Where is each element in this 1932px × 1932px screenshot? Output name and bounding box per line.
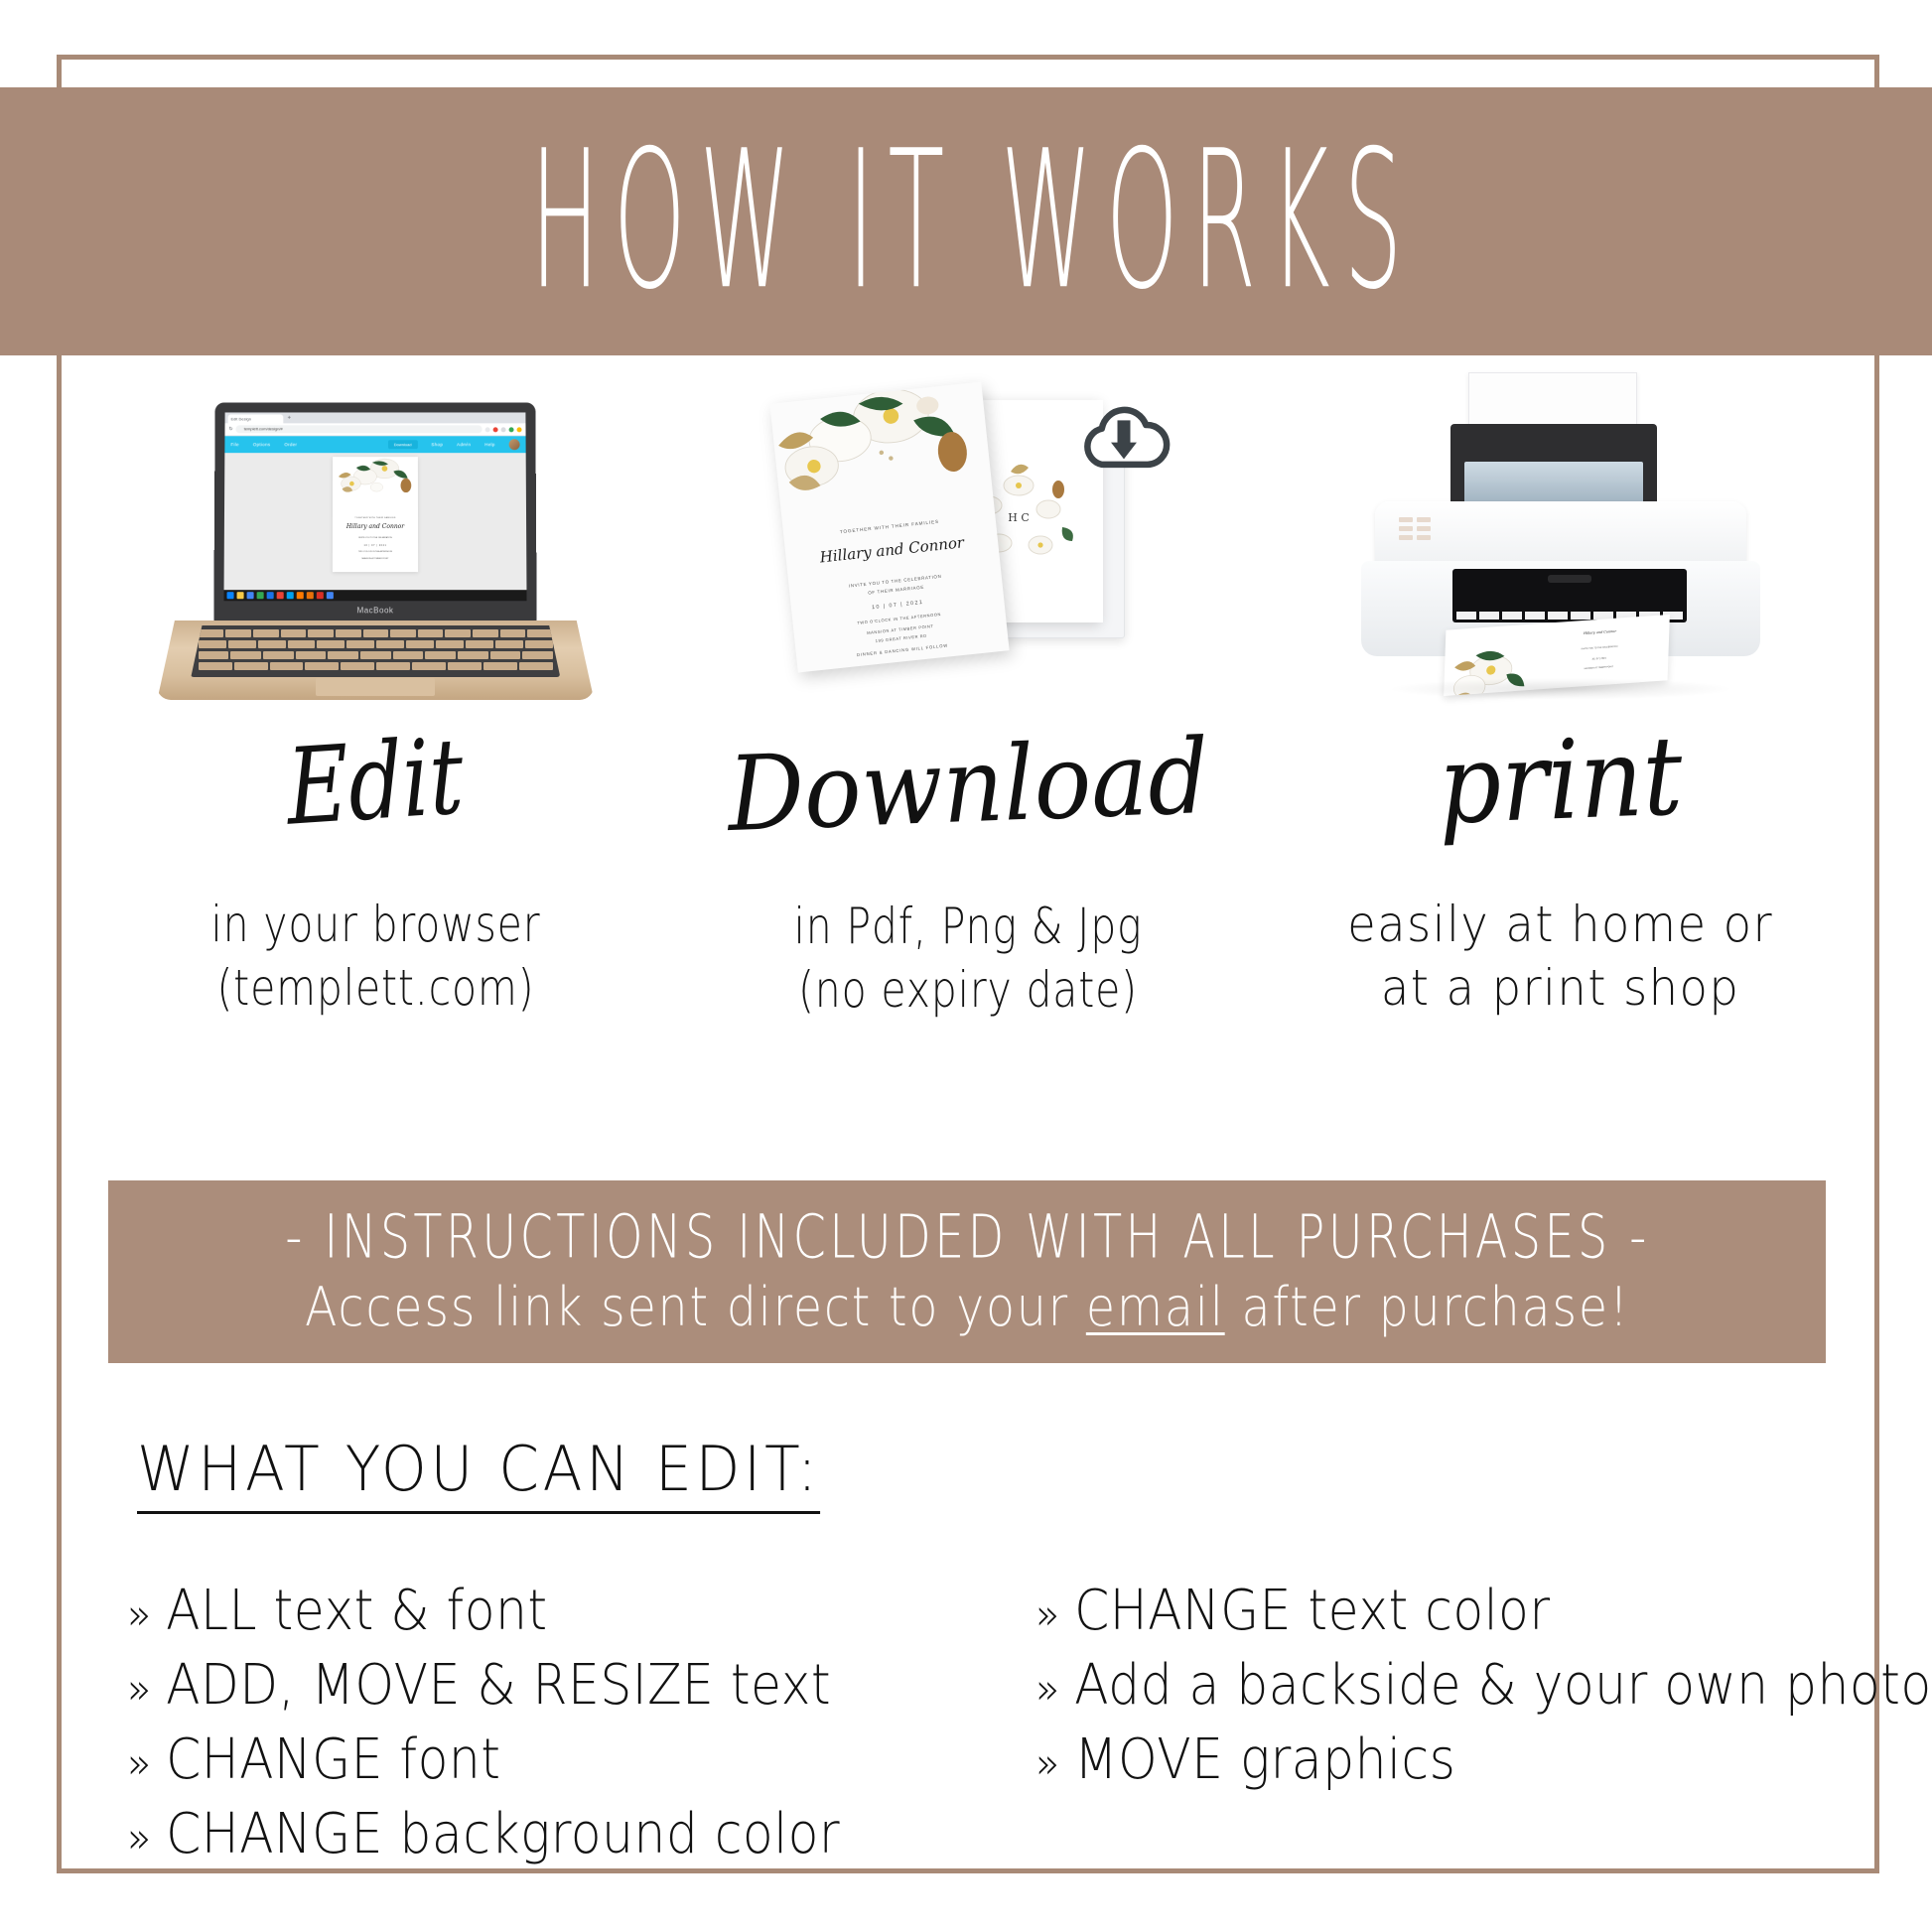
list-item: » CHANGE text color bbox=[1035, 1574, 1790, 1648]
caption-line-1: easily at home or bbox=[1347, 893, 1773, 956]
avatar[interactable] bbox=[509, 439, 520, 450]
invitation-time: TWO O'CLOCK IN THE AFTERNOON bbox=[340, 551, 411, 553]
laptop-keyboard bbox=[191, 625, 560, 677]
bullet-icon: » bbox=[1035, 1587, 1060, 1645]
os-taskbar bbox=[224, 590, 527, 601]
printer-shadow bbox=[1387, 678, 1734, 700]
printer-illustration: Hillary and Connor INVITE YOU TO THE CEL… bbox=[1264, 372, 1857, 700]
laptop-graphic: Edit Design + ↻ templett.com/design/# bbox=[157, 402, 594, 700]
menu-file[interactable]: File bbox=[231, 442, 239, 447]
bullet-icon: » bbox=[127, 1587, 152, 1645]
edit-list-left: » ALL text & font » ADD, MOVE & RESIZE t… bbox=[127, 1574, 1012, 1871]
profile-icon[interactable] bbox=[517, 427, 522, 432]
step-label-edit: Edit bbox=[286, 724, 467, 840]
invitation-date: 10 | 07 | 2021 bbox=[340, 544, 411, 547]
list-item: » Add a backside & your own photos bbox=[1035, 1648, 1790, 1723]
list-item: » ADD, MOVE & RESIZE text bbox=[127, 1648, 923, 1723]
step-caption-print: easily at home or at a print shop bbox=[1347, 893, 1773, 1020]
list-item: » MOVE graphics bbox=[1035, 1723, 1790, 1797]
step-label-download: Download bbox=[726, 725, 1209, 846]
laptop-brand-label: MacBook bbox=[214, 601, 537, 621]
step-caption-download: in Pdf, Png & Jpg (no expiry date) bbox=[794, 895, 1143, 1022]
cloud-download-icon bbox=[1077, 400, 1171, 476]
browser-tab-bar: Edit Design + bbox=[225, 412, 526, 423]
printer-output-slot bbox=[1452, 569, 1687, 622]
app-toolbar: File Options Order Download Shop Admin H… bbox=[225, 436, 526, 453]
instructions-band: - INSTRUCTIONS INCLUDED WITH ALL PURCHAS… bbox=[108, 1180, 1826, 1363]
browser-window: Edit Design + ↻ templett.com/design/# bbox=[224, 412, 527, 601]
invitation-venue: MANSION AT TIMBER POINT bbox=[1538, 662, 1659, 673]
download-illustration: H C bbox=[672, 372, 1265, 700]
caption-line-1: in your browser bbox=[210, 893, 540, 956]
instructions-subline: Access link sent direct to your email af… bbox=[305, 1276, 1630, 1338]
list-item: » CHANGE background color bbox=[127, 1797, 923, 1871]
how-it-works-infographic: HOW IT WORKS Edit Design + ↻ t bbox=[0, 0, 1932, 1932]
taskbar-icon[interactable] bbox=[287, 592, 294, 599]
printer-paper-feed-tray bbox=[1450, 424, 1657, 509]
floral-graphic bbox=[333, 457, 418, 505]
invitation-eyebrow: TOGETHER WITH THEIR FAMILIES bbox=[340, 517, 411, 519]
bullet-icon: » bbox=[1035, 1735, 1060, 1794]
step-edit: Edit Design + ↻ templett.com/design/# bbox=[79, 372, 672, 1077]
subline-before: Access link sent direct to your bbox=[305, 1276, 1086, 1338]
list-item-label: Add a backside & your own photos bbox=[1074, 1648, 1932, 1723]
printer-feed-inner bbox=[1464, 462, 1643, 505]
taskbar-icon[interactable] bbox=[297, 592, 304, 599]
list-item-label: MOVE graphics bbox=[1074, 1723, 1455, 1797]
extension-icon[interactable] bbox=[485, 427, 490, 432]
step-print: Hillary and Connor INVITE YOU TO THE CEL… bbox=[1264, 372, 1857, 1077]
invitation-names: Hillary and Connor bbox=[340, 523, 411, 530]
monogram-text: H C bbox=[1008, 511, 1030, 524]
list-item-label: ADD, MOVE & RESIZE text bbox=[166, 1648, 831, 1723]
email-link[interactable]: email bbox=[1086, 1276, 1225, 1338]
taskbar-icon[interactable] bbox=[257, 592, 264, 599]
laptop-screen: Edit Design + ↻ templett.com/design/# bbox=[214, 403, 537, 623]
laptop-illustration: Edit Design + ↻ templett.com/design/# bbox=[79, 372, 672, 700]
list-item: » CHANGE font bbox=[127, 1723, 923, 1797]
record-icon[interactable] bbox=[493, 427, 498, 432]
what-you-can-edit-heading: WHAT YOU CAN EDIT: bbox=[137, 1433, 820, 1514]
menu-shop[interactable]: Shop bbox=[432, 442, 444, 447]
step-download: H C bbox=[672, 372, 1265, 1077]
bullet-icon: » bbox=[127, 1735, 152, 1794]
caption-line-1: in Pdf, Png & Jpg bbox=[794, 895, 1143, 958]
taskbar-icon[interactable] bbox=[317, 592, 324, 599]
header-band: HOW IT WORKS bbox=[0, 87, 1932, 355]
new-tab-icon[interactable]: + bbox=[286, 415, 294, 423]
floral-graphic bbox=[769, 382, 993, 518]
taskbar-icon[interactable] bbox=[307, 592, 314, 599]
taskbar-icon[interactable] bbox=[327, 592, 334, 599]
bullet-icon: » bbox=[1035, 1661, 1060, 1720]
what-you-can-edit-lists: » ALL text & font » ADD, MOVE & RESIZE t… bbox=[127, 1574, 1874, 1871]
download-graphic: H C bbox=[759, 382, 1176, 700]
laptop-trackpad bbox=[316, 678, 435, 696]
puzzle-icon[interactable] bbox=[501, 427, 506, 432]
invitation-preview: TOGETHER WITH THEIR FAMILIES Hillary and… bbox=[333, 457, 418, 572]
printer-slot-handle bbox=[1548, 575, 1591, 583]
bullet-icon: » bbox=[127, 1810, 152, 1868]
invitation-names: Hillary and Connor bbox=[802, 531, 982, 568]
menu-order[interactable]: Order bbox=[285, 442, 298, 447]
browser-url-bar: ↻ templett.com/design/# bbox=[225, 423, 526, 436]
caption-line-2: (templett.com) bbox=[210, 956, 540, 1020]
invitation-venue: MANSION AT TIMBER POINT bbox=[340, 558, 411, 560]
taskbar-icon[interactable] bbox=[227, 592, 234, 599]
steps-row: Edit Design + ↻ templett.com/design/# bbox=[79, 372, 1857, 1077]
caption-line-2: (no expiry date) bbox=[794, 958, 1143, 1022]
url-input[interactable]: templett.com/design/# bbox=[236, 425, 483, 433]
taskbar-icon[interactable] bbox=[247, 592, 254, 599]
invitation-card: TOGETHER WITH THEIR FAMILIES Hillary and… bbox=[769, 382, 1009, 673]
subline-after: after purchase! bbox=[1224, 1276, 1629, 1338]
menu-options[interactable]: Options bbox=[253, 442, 271, 447]
reload-icon[interactable]: ↻ bbox=[229, 426, 233, 432]
edit-list-right: » CHANGE text color » Add a backside & y… bbox=[1035, 1574, 1874, 1871]
instructions-headline: - INSTRUCTIONS INCLUDED WITH ALL PURCHAS… bbox=[285, 1202, 1649, 1272]
list-item-label: CHANGE text color bbox=[1074, 1574, 1550, 1648]
invitation-names: Hillary and Connor bbox=[1539, 625, 1660, 638]
taskbar-icon[interactable] bbox=[267, 592, 274, 599]
laptop-base bbox=[157, 621, 594, 700]
list-item-label: CHANGE font bbox=[166, 1723, 500, 1797]
list-item: » ALL text & font bbox=[127, 1574, 923, 1648]
browser-tab[interactable]: Edit Design bbox=[228, 414, 284, 423]
printer-graphic: Hillary and Connor INVITE YOU TO THE CEL… bbox=[1347, 372, 1774, 700]
printer-control-buttons[interactable] bbox=[1399, 517, 1431, 540]
invitation-invite-line: INVITE YOU TO THE CELEBRATION bbox=[1539, 642, 1660, 653]
page-title: HOW IT WORKS bbox=[516, 126, 1416, 317]
taskbar-icon[interactable] bbox=[237, 592, 244, 599]
step-caption-edit: in your browser (templett.com) bbox=[210, 893, 540, 1020]
taskbar-icon[interactable] bbox=[277, 592, 284, 599]
menu-admin[interactable]: Admin bbox=[457, 442, 471, 447]
bullet-icon: » bbox=[127, 1661, 152, 1720]
download-button[interactable]: Download bbox=[388, 440, 418, 449]
list-item-label: ALL text & font bbox=[166, 1574, 548, 1648]
design-canvas: TOGETHER WITH THEIR FAMILIES Hillary and… bbox=[224, 453, 527, 590]
list-item-label: CHANGE background color bbox=[166, 1797, 840, 1871]
menu-help[interactable]: Help bbox=[485, 442, 495, 447]
invitation-invite-line: INVITE YOU TO THE CELEBRATION bbox=[340, 537, 411, 539]
step-label-print: print bbox=[1437, 721, 1684, 839]
apps-icon[interactable] bbox=[509, 427, 514, 432]
caption-line-2: at a print shop bbox=[1347, 956, 1773, 1020]
